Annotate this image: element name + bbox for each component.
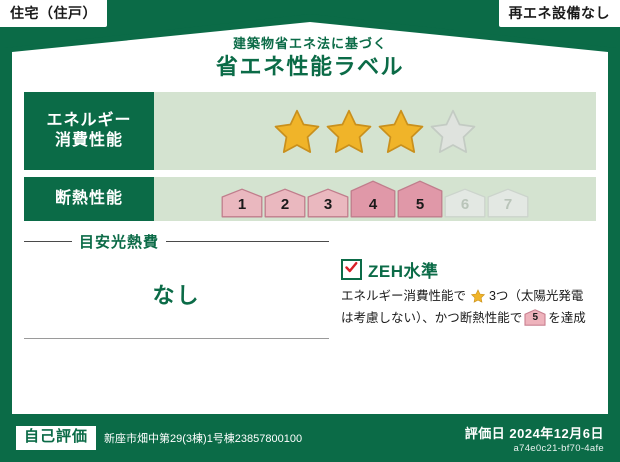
building-type-tag: 住宅（住戸） [0,0,107,27]
evaluation-date: 評価日 2024年12月6日 [465,423,604,442]
star-empty-icon [429,108,477,154]
lower-section: 目安光熱費 なし ZEH水準 エネルギー消費性能で [24,231,596,339]
insulation-level-badge: 6 [444,188,486,218]
energy-performance-value [154,92,596,170]
insulation-performance-label: 断熱性能 [24,177,154,221]
heading-rule-right [166,241,329,242]
insulation-level-badge-text: 5 [397,196,443,213]
zeh-desc-part2: は考慮しない）、かつ断熱性能で [341,311,522,325]
energy-performance-label: エネルギー 消費性能 [24,92,154,170]
insulation-level-badge: 7 [487,188,529,218]
insulation-level-badge: 5 [397,180,443,218]
heading-rule-left [24,241,72,242]
utility-cost-heading: 目安光熱費 [24,231,329,252]
insulation-level-scale: 1234567 [221,180,529,218]
zeh-description: エネルギー消費性能で 3つ（太陽光発電 は考慮しない）、かつ断熱性能で 5 を達… [341,287,596,329]
energy-performance-row: エネルギー 消費性能 [24,92,596,170]
zeh-checkbox-icon [341,259,362,280]
insulation-level-badge: 1 [221,188,263,218]
insulation-level-badge-text: 1 [221,196,263,213]
energy-label-line2: 消費性能 [46,131,131,151]
insulation-performance-value: 1234567 [154,177,596,221]
insulation-level-badge: 2 [264,188,306,218]
building-identifier: 新座市畑中第29(3棟)1号棟23857800100 [104,430,302,446]
utility-cost-heading-text: 目安光熱費 [79,231,159,252]
zeh-desc-stars: 3つ（太陽光発電 [489,289,583,303]
energy-label-line1: エネルギー [46,111,131,131]
zeh-title-row: ZEH水準 [341,257,596,282]
zeh-title: ZEH水準 [368,257,439,282]
star-filled-icon [377,108,425,154]
star-rating [273,108,477,154]
insulation-level-badge-text: 4 [350,196,396,213]
energy-label-card: 住宅（住戸） 再エネ設備なし 建築物省エネ法に基づく 省エネ性能ラベル エネルギ… [0,0,620,462]
footer-right: 評価日 2024年12月6日 a74e0c21-bf70-4afe [465,423,604,454]
star-filled-icon [273,108,321,154]
evaluation-hash: a74e0c21-bf70-4afe [465,443,604,454]
zeh-block: ZEH水準 エネルギー消費性能で 3つ（太陽光発電 は考慮しない）、かつ断熱性能… [329,231,596,339]
insulation-performance-row: 断熱性能 1234567 [24,177,596,221]
utility-cost-block: 目安光熱費 なし [24,231,329,339]
utility-cost-value: なし [24,278,329,310]
insulation-level-badge-text: 3 [307,196,349,213]
renewable-equipment-tag: 再エネ設備なし [499,0,620,27]
evaluation-type-badge: 自己評価 [16,426,96,450]
insulation-level-badge-text: 7 [487,196,529,213]
insulation-level-badge: 4 [350,180,396,218]
inline-star-icon [467,292,488,306]
zeh-desc-part1: エネルギー消費性能で [341,289,466,303]
zeh-desc-part3: を達成 [548,311,586,325]
inline-level-badge-text: 5 [524,310,546,326]
footer-left: 自己評価 新座市畑中第29(3棟)1号棟23857800100 [16,426,465,450]
inline-level-badge: 5 [524,309,546,326]
insulation-level-badge: 3 [307,188,349,218]
label-footer: 自己評価 新座市畑中第29(3棟)1号棟23857800100 評価日 2024… [0,414,620,462]
insulation-level-badge-text: 6 [444,196,486,213]
star-filled-icon [325,108,373,154]
insulation-level-badge-text: 2 [264,196,306,213]
label-content: エネルギー 消費性能 断熱性能 1234567 目安光熱費 [24,92,596,402]
utility-cost-divider [24,338,329,339]
